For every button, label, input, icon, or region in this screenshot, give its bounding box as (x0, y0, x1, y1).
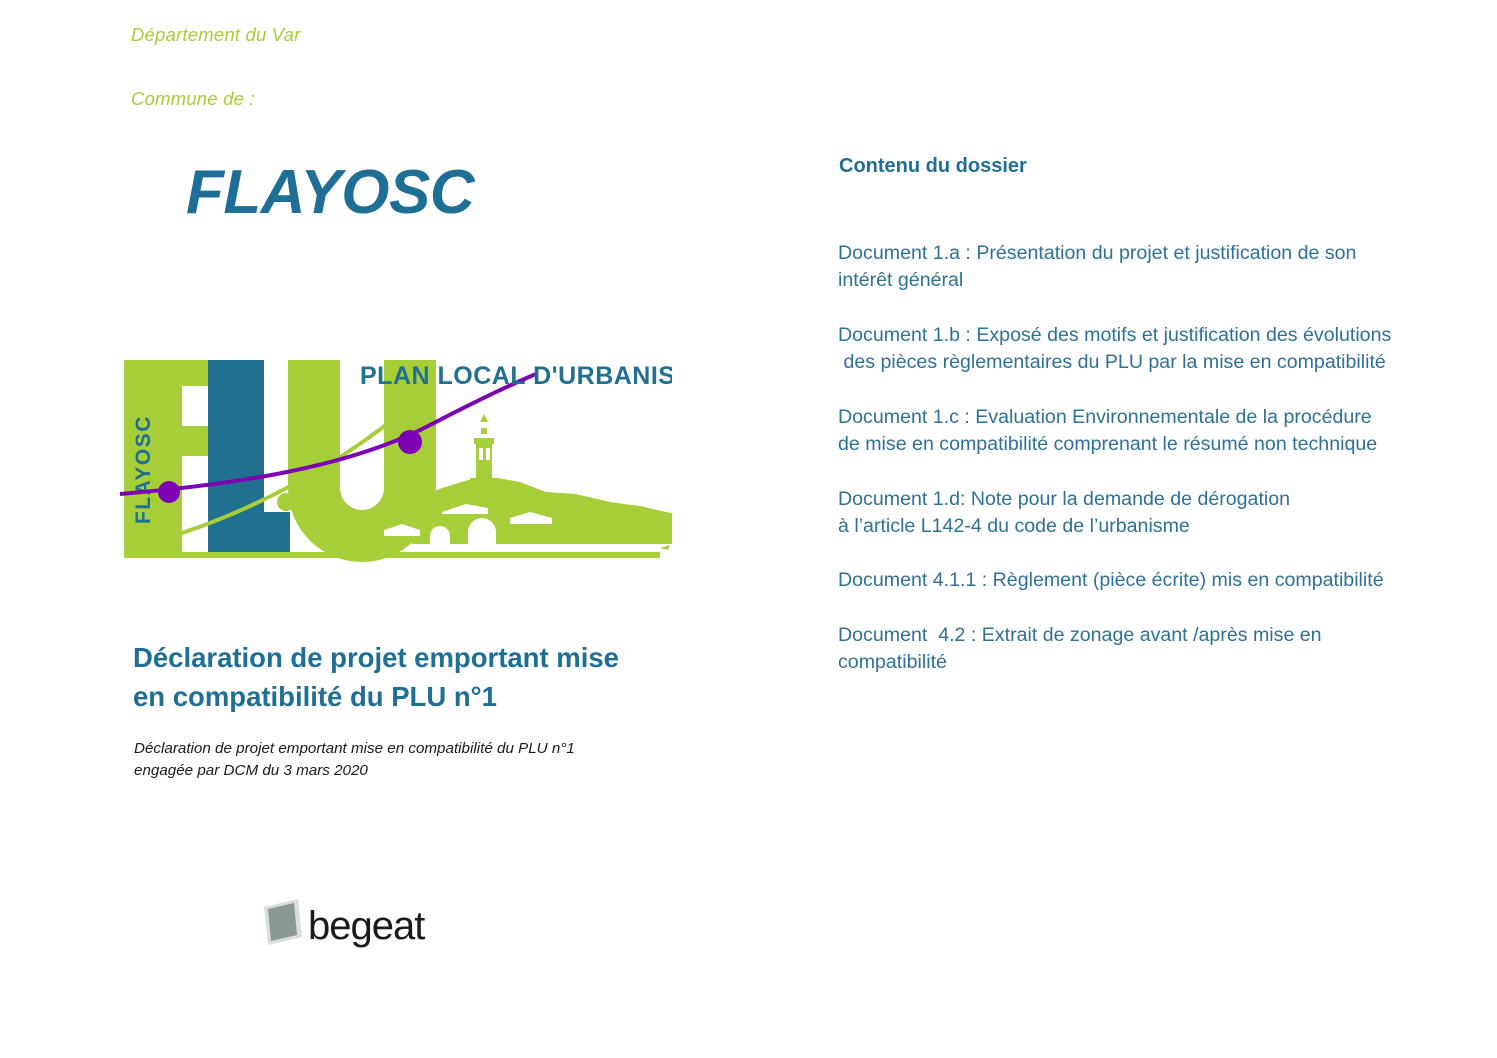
logo-green-dot-right (389, 405, 411, 427)
logo-green-dot-left (277, 493, 295, 511)
document-subtitle: Déclaration de projet emportant mise en … (134, 738, 694, 781)
contents-item: Document 4.2 : Extrait de zonage avant /… (838, 622, 1486, 677)
commune-name-title: FLAYOSC (186, 162, 474, 224)
begeat-sheets-icon (264, 899, 302, 945)
contents-item: Document 1.a : Présentation du projet et… (838, 240, 1486, 295)
logo-vertical-label: FLAYOSC (132, 415, 155, 524)
plu-logo: FLAYOSC (112, 352, 672, 567)
logo-baseline (124, 552, 660, 558)
contents-item: Document 1.c : Evaluation Environnementa… (838, 404, 1486, 459)
logo-letter-l (208, 360, 290, 552)
document-title-line1: Déclaration de projet emportant mise (133, 638, 693, 677)
contents-item: Document 1.d: Note pour la demande de dé… (838, 486, 1486, 541)
contents-list: Document 1.a : Présentation du projet et… (838, 240, 1486, 704)
document-title: Déclaration de projet emportant mise en … (133, 638, 693, 716)
document-subtitle-line2: engagée par DCM du 3 mars 2020 (134, 760, 694, 782)
begeat-logo: begeat (258, 893, 428, 955)
department-label: Département du Var (131, 24, 301, 46)
document-title-line2: en compatibilité du PLU n°1 (133, 677, 693, 716)
logo-purple-dot-right (398, 430, 422, 454)
contents-heading: Contenu du dossier (839, 155, 1027, 178)
begeat-wordmark: begeat (308, 904, 425, 948)
contents-item: Document 4.1.1 : Règlement (pièce écrite… (838, 567, 1486, 594)
contents-item: Document 1.b : Exposé des motifs et just… (838, 322, 1486, 377)
logo-purple-dot-left (158, 481, 180, 503)
commune-label: Commune de : (131, 88, 255, 110)
document-subtitle-line1: Déclaration de projet emportant mise en … (134, 738, 694, 760)
logo-tagline: PLAN LOCAL D'URBANISME (360, 362, 672, 390)
